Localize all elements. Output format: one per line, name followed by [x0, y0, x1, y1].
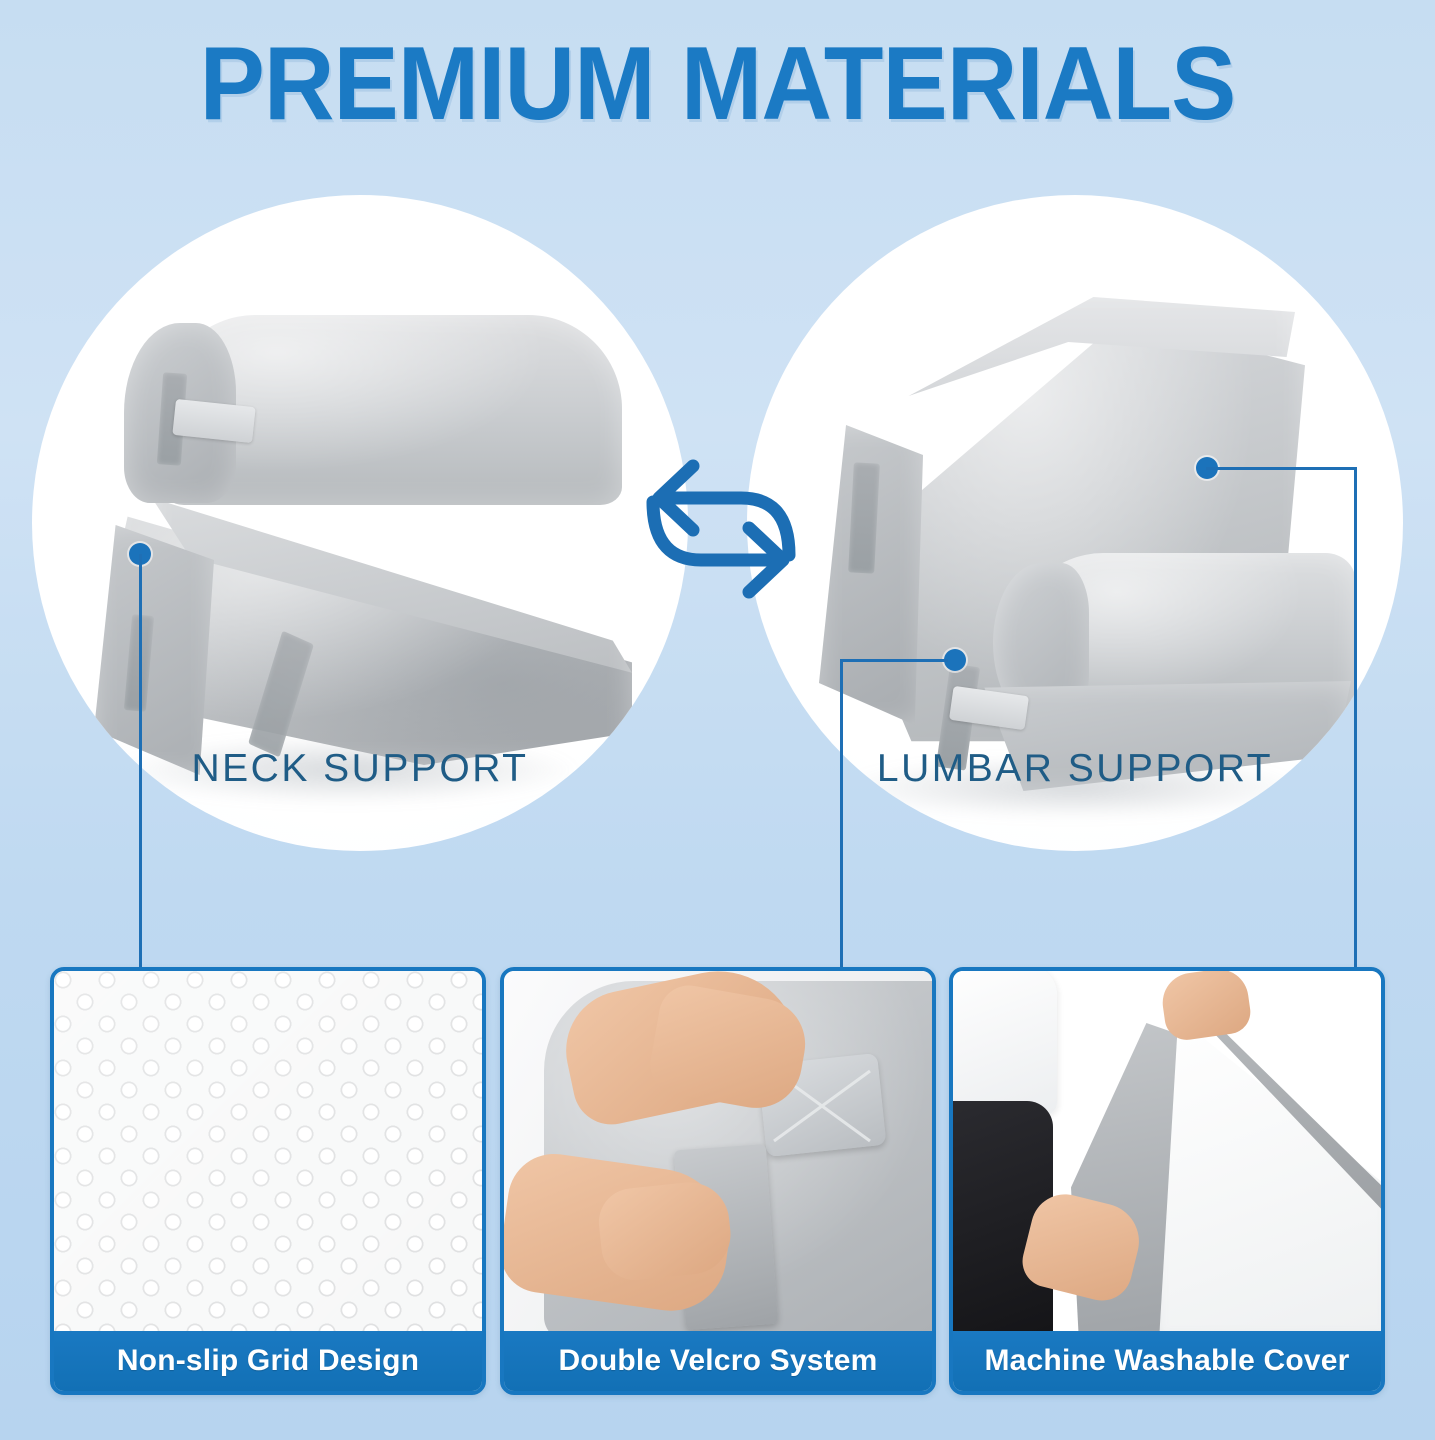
feature-media-washable: [953, 971, 1381, 1339]
circle-label-neck: NECK SUPPORT: [32, 747, 688, 791]
page-title: PREMIUM MATERIALS: [43, 32, 1392, 136]
feature-panel-washable[interactable]: Machine Washable Cover: [949, 967, 1385, 1395]
feature-panel-velcro[interactable]: Double Velcro System: [500, 967, 936, 1395]
shirt: [953, 971, 1057, 1115]
cover-inner: [1159, 1011, 1381, 1339]
callout-line-velcro-h: [840, 659, 948, 662]
callout-line-grid: [139, 554, 142, 967]
callout-line-cover-v: [1354, 467, 1357, 967]
callout-line-velcro-v: [840, 659, 843, 967]
feature-caption-grid: Non-slip Grid Design: [54, 1331, 482, 1391]
showcase-circle-neck: NECK SUPPORT: [32, 195, 688, 851]
swap-arrows-icon: [641, 440, 801, 620]
feature-media-grid: [54, 971, 482, 1339]
feature-caption-washable: Machine Washable Cover: [953, 1331, 1381, 1391]
circle-label-lumbar: LUMBAR SUPPORT: [747, 747, 1403, 791]
non-slip-grid-texture: [54, 971, 482, 1339]
feature-panel-grid[interactable]: Non-slip Grid Design: [50, 967, 486, 1395]
feature-caption-velcro: Double Velcro System: [504, 1331, 932, 1391]
showcase-circle-lumbar: LUMBAR SUPPORT: [747, 195, 1403, 851]
feature-media-velcro: [504, 971, 932, 1339]
callout-line-cover-h: [1206, 467, 1357, 470]
hand-top: [1159, 971, 1253, 1043]
